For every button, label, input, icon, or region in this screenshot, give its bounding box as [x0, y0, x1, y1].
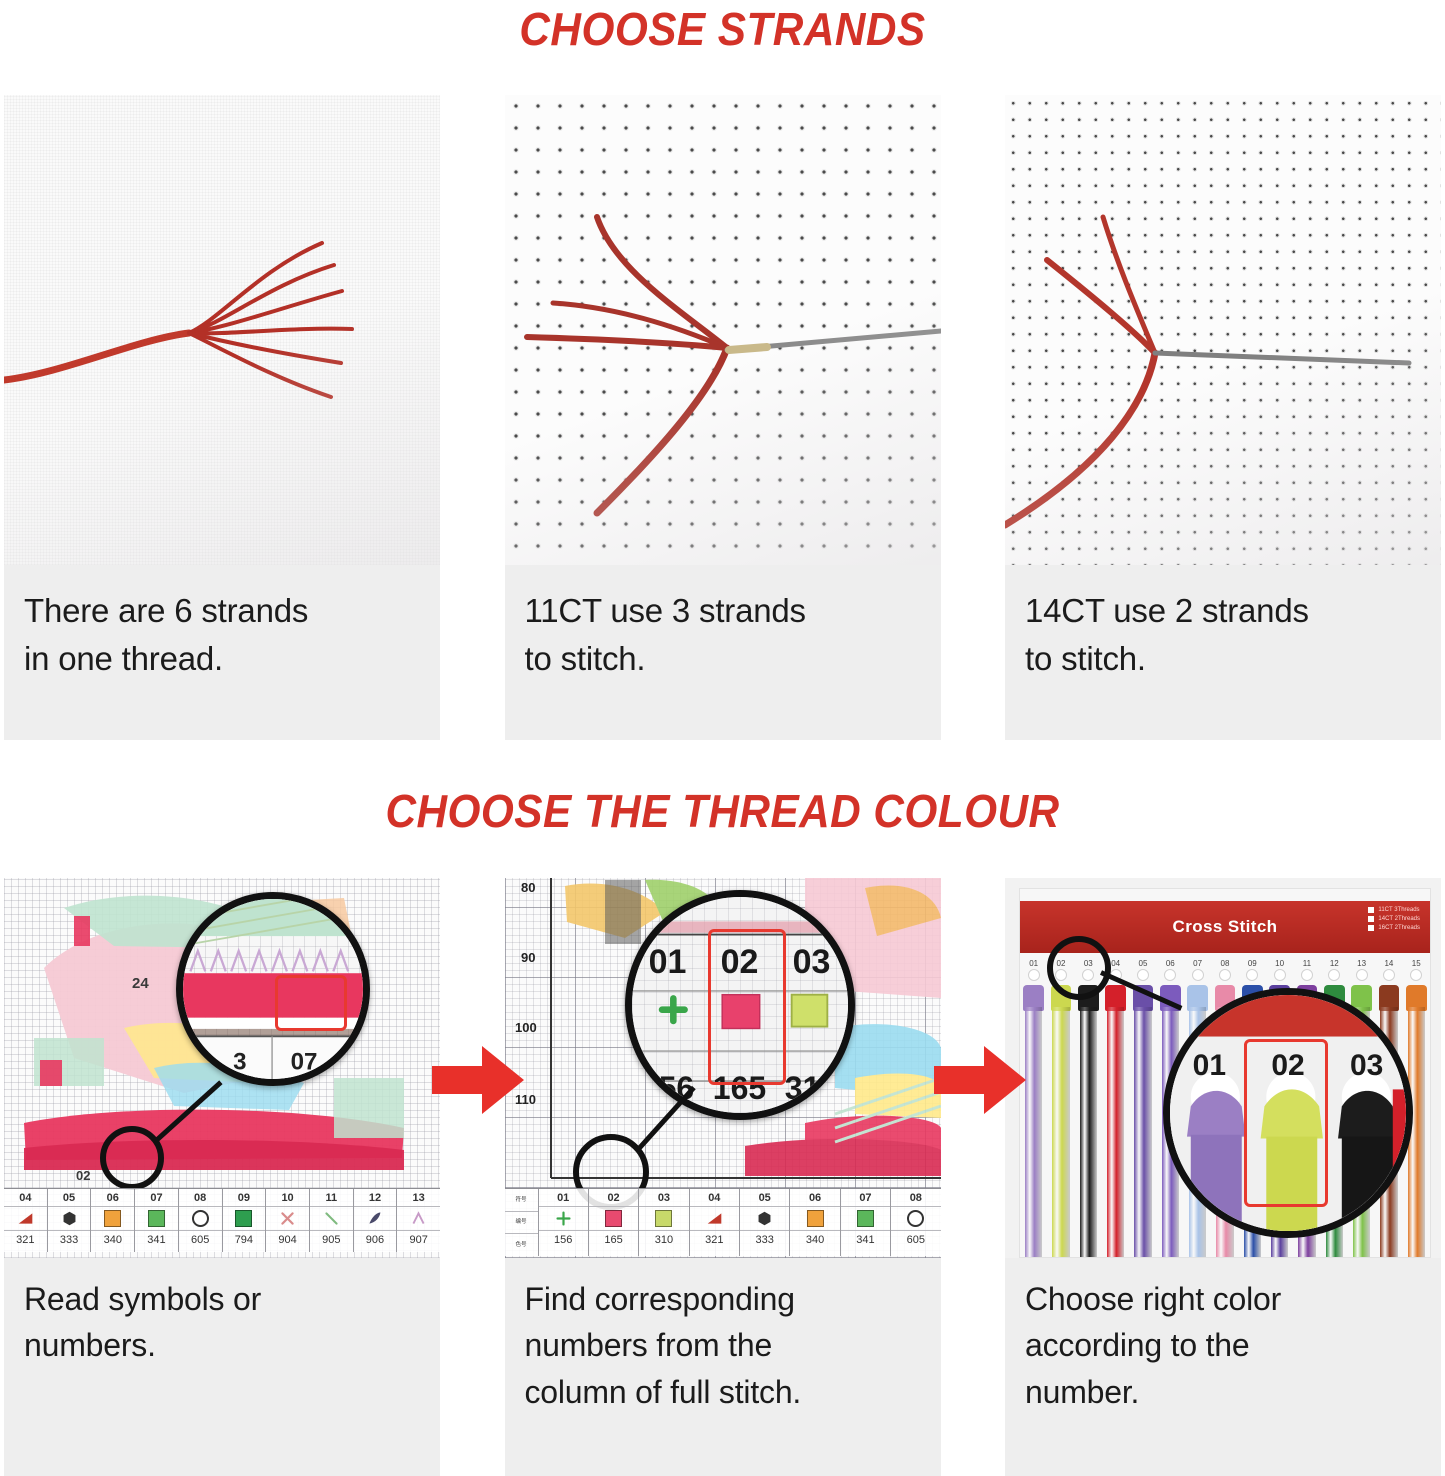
legend-dmc-number: 340 [91, 1231, 134, 1249]
thread-peg-number: 04 [1111, 959, 1120, 968]
legend-index-number: 07 [135, 1189, 178, 1207]
photo-11ct-aida [505, 95, 941, 565]
legend-dmc-number: 321 [4, 1231, 47, 1249]
caption-line-2: numbers. [24, 1322, 420, 1368]
legend-symbol-cell [589, 1207, 638, 1231]
magnified-dmc: 156 [641, 1070, 694, 1107]
magnified-number-right: 07 [291, 1049, 318, 1076]
magnifier-lens: 01 156 02 165 03 310 [625, 890, 855, 1120]
legend-dmc-number: 310 [639, 1231, 688, 1249]
legend-index-number: 06 [91, 1189, 134, 1207]
legend-symbol-square-orange-icon [807, 1210, 824, 1227]
magnifier-lens: 3 07 [176, 892, 370, 1086]
legend-symbol-square-darkgreen-icon [235, 1210, 252, 1227]
legend-column: 03310 [639, 1189, 689, 1256]
legend-symbol-cross-icon [279, 1210, 296, 1227]
caption-line-3: column of full stitch. [525, 1369, 921, 1415]
needle-icon [1155, 353, 1409, 363]
thread-skein-strands [1025, 1007, 1043, 1257]
legend-index-number: 09 [223, 1189, 266, 1207]
flow-arrow-right-icon [934, 1042, 1026, 1118]
legend-index-number: 08 [891, 1189, 940, 1207]
caption-line-1: Read symbols or [24, 1276, 420, 1322]
axis-label-90: 90 [521, 950, 535, 965]
thread-skein [1047, 985, 1074, 1257]
legend-dmc-number: 321 [690, 1231, 739, 1249]
needle-icon [727, 331, 941, 350]
caption-line-2: to stitch. [525, 635, 921, 683]
thread-peg-hole [1164, 969, 1176, 981]
caption-find-numbers: Find corresponding numbers from the colu… [505, 1258, 941, 1476]
legend-index-number: 12 [354, 1189, 397, 1207]
chart-cell-label-24: 24 [132, 975, 149, 992]
legend-dmc-number: 904 [266, 1231, 309, 1249]
legend-index-number: 05 [740, 1189, 789, 1207]
thread-peg-hole [1301, 969, 1313, 981]
caption-line-2: numbers from the [525, 1322, 921, 1368]
section-title-choose-strands: CHOOSE STRANDS [58, 2, 1387, 56]
red-highlight-box [275, 975, 347, 1031]
magnified-column-01: 01 156 [632, 897, 704, 1113]
caption-read-symbols: Read symbols or numbers. [4, 1258, 440, 1476]
magnified-number-left: 3 [233, 1049, 246, 1076]
thread-peg-number: 09 [1248, 959, 1257, 968]
panel-read-symbols: 24 02 [4, 878, 440, 1476]
thread-peg-hole [1328, 969, 1340, 981]
legend-symbol-caret-icon [410, 1210, 427, 1227]
magnified-dmc: 310 [785, 1070, 838, 1107]
legend-dmc-number: 906 [354, 1231, 397, 1249]
legend-index-number: 04 [4, 1189, 47, 1207]
thread-peg: 06 [1157, 959, 1184, 985]
thread-peg-hole [1274, 969, 1286, 981]
thread-card-title: Cross Stitch [1173, 917, 1278, 937]
legend-symbol-cell [310, 1207, 353, 1231]
caption-line-1: 11CT use 3 strands [525, 587, 921, 635]
legend-index-number: 07 [841, 1189, 890, 1207]
legend-symbol-cell [91, 1207, 134, 1231]
panel-14ct-two-strands: 14CT use 2 strands to stitch. [1005, 95, 1441, 740]
thread-peg-hole [1028, 969, 1040, 981]
legend-symbol-hexagon-filled-icon [756, 1210, 773, 1227]
thread-card-checkbox[interactable]: 11CT 3Threads [1368, 907, 1420, 913]
legend-dmc-number: 605 [179, 1231, 222, 1249]
legend-column: 11905 [310, 1189, 354, 1252]
checkbox-icon [1368, 916, 1374, 922]
caption-line-1: Choose right color [1025, 1276, 1421, 1322]
legend-row-header: 符号 [505, 1189, 538, 1212]
thread-skein-strands [1052, 1007, 1070, 1257]
legend-symbol-cell [841, 1207, 890, 1231]
panel-six-strands: There are 6 strands in one thread. [4, 95, 440, 740]
legend-symbol-cell [639, 1207, 688, 1231]
legend-column: 08605 [179, 1189, 223, 1252]
caption-11ct: 11CT use 3 strands to stitch. [505, 565, 941, 740]
legend-index-number: 10 [266, 1189, 309, 1207]
legend-symbol-cell [740, 1207, 789, 1231]
legend-index-number: 06 [790, 1189, 839, 1207]
colour-panel-row: 24 02 [0, 878, 1445, 1476]
legend-column: 07341 [841, 1189, 891, 1256]
legend-column: 05333 [48, 1189, 92, 1252]
legend-column: 09794 [223, 1189, 267, 1252]
legend-symbol-square-orange-icon [104, 1210, 121, 1227]
thread-peg: 11 [1293, 959, 1320, 985]
magnified-peg-03: 03 [1327, 995, 1406, 1231]
thread-peg: 08 [1211, 959, 1238, 985]
panel-11ct-three-strands: 11CT use 3 strands to stitch. [505, 95, 941, 740]
legend-column: 08605 [891, 1189, 940, 1256]
legend-column: 06340 [91, 1189, 135, 1252]
red-highlight-box [708, 929, 786, 1085]
thread-skein-strands [1107, 1007, 1125, 1257]
legend-symbol-circle-open-icon [907, 1210, 924, 1227]
thread-peg: 13 [1348, 959, 1375, 985]
checkbox-icon [1368, 907, 1374, 913]
legend-dmc-number: 341 [135, 1231, 178, 1249]
checkbox-label: 16CT 2Threads [1378, 925, 1420, 931]
thread-skein [1102, 985, 1129, 1257]
thread-peg: 14 [1375, 959, 1402, 985]
thread-peg-hole [1137, 969, 1149, 981]
legend-column: 06340 [790, 1189, 840, 1256]
legend-column: 02165 [589, 1189, 639, 1256]
legend-row-header: 编号 [505, 1212, 538, 1235]
caption-line-2: in one thread. [24, 635, 420, 683]
caption-line-2: to stitch. [1025, 635, 1421, 683]
legend-symbol-cell [539, 1207, 588, 1231]
legend-dmc-number: 333 [740, 1231, 789, 1249]
legend-dmc-number: 907 [397, 1231, 440, 1249]
magnifier-lens: 01 02 03 [1163, 988, 1413, 1238]
thread-peg-number: 13 [1357, 959, 1366, 968]
photo-thread-card: Cross Stitch 11CT 3Threads14CT 2Threads1… [1005, 878, 1441, 1258]
legend-symbol-cell [179, 1207, 222, 1231]
magnifier-focus-ring [1047, 936, 1111, 1000]
legend-column: 07341 [135, 1189, 179, 1252]
legend-dmc-number: 156 [539, 1231, 588, 1249]
legend-symbol-cell [4, 1207, 47, 1231]
thread-peg-number: 05 [1139, 959, 1148, 968]
magnified-peg-01: 01 [1170, 995, 1249, 1231]
legend-dmc-number: 605 [891, 1231, 940, 1249]
caption-six-strands: There are 6 strands in one thread. [4, 565, 440, 740]
legend-index-number: 02 [589, 1189, 638, 1207]
checkbox-label: 14CT 2Threads [1378, 916, 1420, 922]
thread-card-checkbox-list: 11CT 3Threads14CT 2Threads16CT 2Threads [1368, 907, 1420, 931]
thread-card-checkbox[interactable]: 14CT 2Threads [1368, 916, 1420, 922]
photo-chart-with-axis: 80 90 100 110 [505, 878, 941, 1258]
pattern-legend-table: 符号编号色号0115602165033100432105333063400734… [505, 1188, 941, 1256]
caption-line-1: Find corresponding [525, 1276, 921, 1322]
thread-peg: 10 [1266, 959, 1293, 985]
legend-dmc-number: 340 [790, 1231, 839, 1249]
pattern-legend-table: 0432105333063400734108605097941090411905… [4, 1188, 440, 1252]
flow-arrow-right-icon [432, 1042, 524, 1118]
legend-index-number: 13 [397, 1189, 440, 1207]
legend-symbol-triangle-icon [706, 1210, 723, 1227]
legend-column: 12906 [354, 1189, 398, 1252]
legend-index-number: 01 [539, 1189, 588, 1207]
legend-column: 10904 [266, 1189, 310, 1252]
thread-skein [1020, 985, 1047, 1257]
thread-skein [1075, 985, 1102, 1257]
panel-find-numbers: 80 90 100 110 [505, 878, 941, 1476]
thread-peg-number: 12 [1330, 959, 1339, 968]
caption-line-3: number. [1025, 1369, 1421, 1415]
section-title-choose-thread-colour: CHOOSE THE THREAD COLOUR [58, 784, 1387, 838]
checkbox-icon [1368, 925, 1374, 931]
thread-peg-hole [1356, 969, 1368, 981]
legend-column: 04321 [690, 1189, 740, 1256]
photo-six-strands [4, 95, 440, 565]
legend-symbol-cross-green-icon [555, 1210, 572, 1227]
legend-column: 01156 [539, 1189, 589, 1256]
thread-three-strands-illustration [505, 95, 941, 565]
magnified-column-03: 03 310 [776, 897, 848, 1113]
thread-peg-hole [1383, 969, 1395, 981]
thread-peg-hole [1410, 969, 1422, 981]
caption-line-1: There are 6 strands [24, 587, 420, 635]
thread-skein-strands [1080, 1007, 1098, 1257]
legend-dmc-number: 905 [310, 1231, 353, 1249]
thread-card-checkbox[interactable]: 16CT 2Threads [1368, 925, 1420, 931]
legend-row-headers: 符号编号色号 [505, 1189, 539, 1256]
legend-symbol-backslash-icon [323, 1210, 340, 1227]
magnified-number: 03 [793, 943, 831, 982]
thread-peg: 15 [1403, 959, 1430, 985]
panel-choose-color: Cross Stitch 11CT 3Threads14CT 2Threads1… [1005, 878, 1441, 1476]
legend-symbol-square-pink-icon [605, 1210, 622, 1227]
legend-index-number: 05 [48, 1189, 91, 1207]
legend-column: 04321 [4, 1189, 48, 1252]
magnified-number: 01 [649, 943, 687, 982]
legend-symbol-leaf-icon [366, 1210, 383, 1227]
magnified-number: 01 [1193, 1049, 1226, 1083]
photo-pattern-chart: 24 02 [4, 878, 440, 1258]
thread-peg-hole [1219, 969, 1231, 981]
photo-14ct-aida [1005, 95, 1441, 565]
red-highlight-box [1244, 1039, 1328, 1207]
legend-dmc-number: 165 [589, 1231, 638, 1249]
thread-peg-hole [1192, 969, 1204, 981]
legend-dmc-number: 794 [223, 1231, 266, 1249]
legend-symbol-cell [266, 1207, 309, 1231]
legend-symbol-cell [354, 1207, 397, 1231]
legend-index-number: 08 [179, 1189, 222, 1207]
chart-cell-label-02: 02 [76, 1168, 90, 1183]
legend-symbol-cell [891, 1207, 940, 1231]
thread-skein-strands [1134, 1007, 1152, 1257]
thread-peg-number: 14 [1384, 959, 1393, 968]
legend-index-number: 03 [639, 1189, 688, 1207]
magnifier-focus-ring [100, 1126, 164, 1190]
caption-line-1: 14CT use 2 strands [1025, 587, 1421, 635]
thread-peg-number: 15 [1412, 959, 1421, 968]
thread-peg-hole [1246, 969, 1258, 981]
axis-label-80: 80 [521, 880, 535, 895]
thread-skein [1129, 985, 1156, 1257]
legend-column: 05333 [740, 1189, 790, 1256]
legend-index-number: 11 [310, 1189, 353, 1207]
thread-peg-number: 07 [1193, 959, 1202, 968]
axis-label-100: 100 [515, 1020, 537, 1035]
strands-panel-row: There are 6 strands in one thread. [0, 95, 1445, 740]
legend-dmc-number: 341 [841, 1231, 890, 1249]
thread-six-strands-illustration [4, 95, 440, 565]
legend-symbol-cell [48, 1207, 91, 1231]
thread-two-strands-illustration [1005, 95, 1441, 565]
caption-14ct: 14CT use 2 strands to stitch. [1005, 565, 1441, 740]
caption-line-2: according to the [1025, 1322, 1421, 1368]
legend-symbol-cell [690, 1207, 739, 1231]
thread-peg: 12 [1321, 959, 1348, 985]
caption-choose-color: Choose right color according to the numb… [1005, 1258, 1441, 1476]
thread-peg-number: 11 [1303, 959, 1311, 968]
legend-symbol-triangle-icon [17, 1210, 34, 1227]
thread-peg-number: 10 [1275, 959, 1284, 968]
legend-symbol-square-green-icon [857, 1210, 874, 1227]
legend-symbol-square-green-icon [148, 1210, 165, 1227]
legend-symbol-hexagon-filled-icon [61, 1210, 78, 1227]
legend-symbol-square-yellowgreen-icon [655, 1210, 672, 1227]
legend-row-header: 色号 [505, 1234, 538, 1256]
legend-dmc-number: 333 [48, 1231, 91, 1249]
legend-symbol-circle-open-icon [192, 1210, 209, 1227]
thread-peg: 01 [1020, 959, 1047, 985]
checkbox-label: 11CT 3Threads [1378, 907, 1419, 913]
legend-column: 13907 [397, 1189, 440, 1252]
legend-symbol-cell [135, 1207, 178, 1231]
thread-peg: 05 [1129, 959, 1156, 985]
legend-symbol-cell [397, 1207, 440, 1231]
legend-index-number: 04 [690, 1189, 739, 1207]
thread-peg-number: 08 [1221, 959, 1230, 968]
thread-peg-number: 01 [1029, 959, 1038, 968]
legend-symbol-cell [790, 1207, 839, 1231]
magnified-number: 03 [1350, 1049, 1383, 1083]
thread-peg: 09 [1239, 959, 1266, 985]
thread-peg: 07 [1184, 959, 1211, 985]
thread-peg-number: 06 [1166, 959, 1175, 968]
legend-symbol-cell [223, 1207, 266, 1231]
